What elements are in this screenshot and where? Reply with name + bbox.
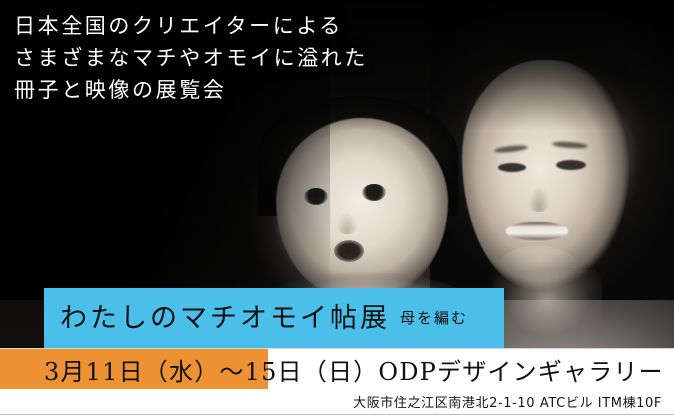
- baby-nose: [336, 212, 358, 234]
- mother-nose: [528, 186, 550, 212]
- info-strip: 3月11日（水）〜15日（日）ODPデザインギャラリー 大阪市住之江区南港北2-…: [0, 348, 674, 415]
- mother-eye-left: [498, 163, 526, 172]
- mother-eye-right: [556, 160, 586, 170]
- venue-address: 大阪市住之江区南港北2-1-10 ATCビル ITM棟10F: [0, 389, 662, 413]
- headline-line-3: 冊子と映像の展覧会: [14, 74, 484, 106]
- headline-block: 日本全国のクリエイターによる さまざまなマチやオモイに溢れた 冊子と映像の展覧会: [14, 10, 484, 106]
- baby-mouth: [334, 240, 364, 262]
- mother-neck: [492, 270, 602, 360]
- exhibition-poster: 日本全国のクリエイターによる さまざまなマチやオモイに溢れた 冊子と映像の展覧会…: [0, 0, 674, 415]
- headline-line-2: さまざまなマチやオモイに溢れた: [14, 42, 484, 74]
- exhibition-subtitle: 母を編む: [400, 311, 468, 326]
- exhibition-title: わたしのマチオモイ帖展: [60, 305, 390, 332]
- headline-line-1: 日本全国のクリエイターによる: [14, 10, 484, 42]
- mother-smile: [506, 222, 568, 240]
- title-banner: わたしのマチオモイ帖展 母を編む: [44, 288, 504, 348]
- baby-eye-right: [362, 184, 386, 201]
- schedule-venue-line: 3月11日（水）〜15日（日）ODPデザインギャラリー: [44, 349, 664, 389]
